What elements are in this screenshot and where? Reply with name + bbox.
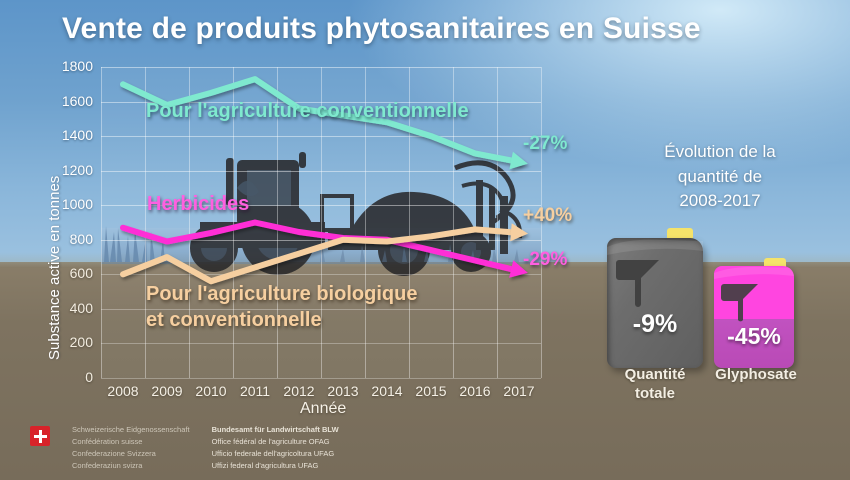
- footer-office-it: Ufficio federale dell'agricoltura UFAG: [212, 448, 339, 460]
- bottle-caption-quantite: Quantité totale: [599, 366, 711, 404]
- x-axis-title: Année: [300, 400, 346, 418]
- bottle-caption-quantite-line1: Quantité: [599, 366, 711, 385]
- bottle-caption-glyphosate: Glyphosate: [702, 366, 810, 385]
- change-label-conventionnelle: -27%: [523, 133, 567, 155]
- panel-title: Évolution de la quantité de 2008-2017: [600, 140, 840, 214]
- y-axis-tick-label: 0: [33, 369, 93, 385]
- footer-confederation-fr: Confédération suisse: [72, 436, 190, 448]
- bottle-glyphosate: -45%: [714, 258, 794, 368]
- y-axis-tick-label: 1600: [33, 93, 93, 109]
- footer-office-fr: Office fédéral de l'agriculture OFAG: [212, 436, 339, 448]
- footer-office-de: Bundesamt für Landwirtschaft BLW: [212, 424, 339, 436]
- change-label-herbicides: -29%: [523, 249, 567, 271]
- footer-confederation-de: Schweizerische Eidgenossenschaft: [72, 424, 190, 436]
- panel-title-line2: quantité de: [600, 165, 840, 190]
- x-axis-tick-label: 2017: [491, 383, 547, 399]
- bottle-body-quantite: -9%: [607, 238, 703, 368]
- y-axis-tick-label: 1200: [33, 162, 93, 178]
- panel-title-line3: 2008-2017: [600, 189, 840, 214]
- footer-confederation: Schweizerische Eidgenossenschaft Confédé…: [72, 424, 190, 473]
- bottle-value-glyphosate: -45%: [714, 323, 794, 350]
- grid-line-horizontal: [101, 378, 541, 379]
- footer-office: Bundesamt für Landwirtschaft BLW Office …: [212, 424, 339, 473]
- series-label-conventionnelle: Pour l'agriculture conventionnelle: [146, 100, 469, 123]
- bottle-caption-glyphosate-line1: Glyphosate: [702, 366, 810, 385]
- infographic-root: Vente de produits phytosanitaires en Sui…: [0, 0, 850, 480]
- y-axis-tick-label: 1000: [33, 196, 93, 212]
- swiss-coat-of-arms-icon: [30, 426, 50, 446]
- footer-office-rm: Uffizi federal d'agricultura UFAG: [212, 460, 339, 472]
- footer-confederation-it: Confederazione Svizzera: [72, 448, 190, 460]
- y-axis-tick-label: 400: [33, 300, 93, 316]
- panel-title-line1: Évolution de la: [600, 140, 840, 165]
- series-label-herbicides: Herbicides: [147, 193, 249, 216]
- bottle-value-quantite: -9%: [607, 310, 703, 339]
- change-label-biologique: +40%: [523, 205, 572, 227]
- y-axis-tick-label: 1800: [33, 58, 93, 74]
- series-label-biologique-line1: Pour l'agriculture biologique: [146, 283, 417, 306]
- bottle-caption-quantite-line2: totale: [599, 385, 711, 404]
- y-axis-tick-label: 600: [33, 265, 93, 281]
- bottle-quantite-totale: -9%: [607, 228, 703, 368]
- footer-confederation-rm: Confederaziun svizra: [72, 460, 190, 472]
- y-axis-tick-label: 1400: [33, 127, 93, 143]
- bottle-body-glyphosate: -45%: [714, 266, 794, 368]
- footer: Schweizerische Eidgenossenschaft Confédé…: [30, 424, 339, 473]
- page-title: Vente de produits phytosanitaires en Sui…: [62, 12, 762, 46]
- series-label-biologique-line2: et conventionnelle: [146, 309, 322, 332]
- y-axis-tick-label: 800: [33, 231, 93, 247]
- y-axis-title: Substance active en tonnes: [46, 176, 63, 360]
- y-axis-tick-label: 200: [33, 334, 93, 350]
